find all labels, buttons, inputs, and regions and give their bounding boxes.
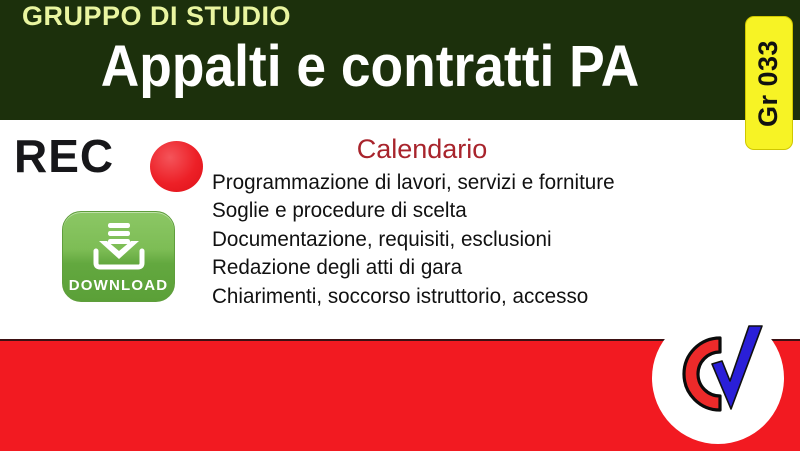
- slide-root: GRUPPO DI STUDIO Appalti e contratti PA …: [0, 0, 800, 451]
- rec-record-dot-icon: [150, 141, 203, 192]
- download-button[interactable]: DOWNLOAD: [62, 211, 175, 302]
- download-button-label: DOWNLOAD: [63, 277, 174, 294]
- topic-list: Programmazione di lavori, servizi e forn…: [212, 168, 631, 310]
- cv-logo: [652, 312, 784, 451]
- section-title: Calendario: [212, 134, 632, 164]
- list-item: Redazione degli atti di gara: [212, 253, 615, 281]
- header-band: GRUPPO DI STUDIO Appalti e contratti PA: [0, 0, 800, 120]
- list-item: Documentazione, requisiti, esclusioni: [212, 225, 615, 253]
- cv-logo-mark: [652, 312, 784, 444]
- group-badge-label: Gr 033: [754, 39, 785, 126]
- list-item: Chiarimenti, soccorso istruttorio, acces…: [212, 282, 615, 310]
- rec-label: REC: [14, 133, 114, 179]
- kicker-text: GRUPPO DI STUDIO: [22, 1, 291, 32]
- list-item: Soglie e procedure di scelta: [212, 196, 615, 224]
- page-title: Appalti e contratti PA: [30, 36, 711, 98]
- group-badge: Gr 033: [745, 16, 793, 150]
- list-item: Programmazione di lavori, servizi e forn…: [212, 168, 615, 196]
- download-arrow-icon: [84, 220, 154, 272]
